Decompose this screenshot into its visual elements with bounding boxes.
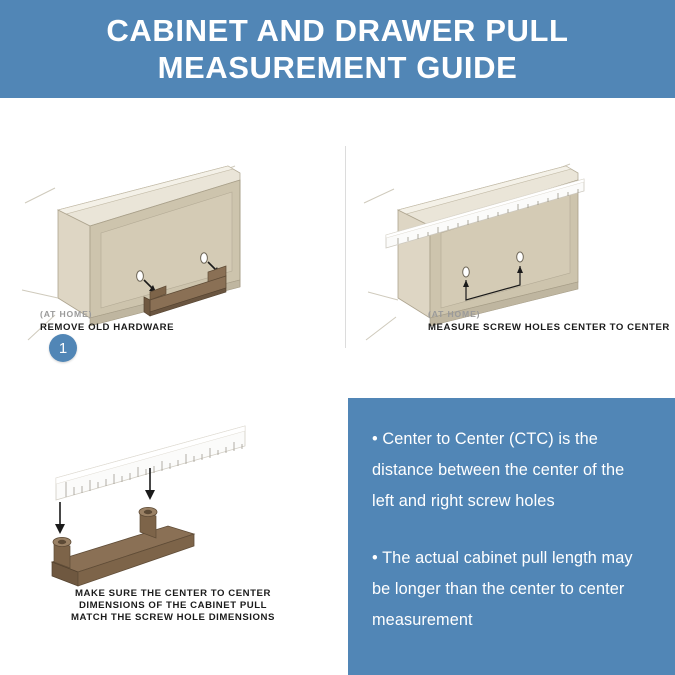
info-bullet-pull-length: • The actual cabinet pull length may be … [372,543,651,636]
cabinet-pull-step-3 [52,507,194,586]
step-1-caption: (AT HOME) REMOVE OLD HARDWARE [40,309,174,334]
step-1-title: REMOVE OLD HARDWARE [40,322,174,334]
step-1-at-home-label: (AT HOME) [40,309,174,319]
step-1-number: 1 [59,340,67,357]
page-title-line-2: MEASUREMENT GUIDE [158,49,518,86]
step-1-badge: 1 [49,334,77,362]
step-3-title-line-1: MAKE SURE THE CENTER TO CENTER [57,588,289,600]
page-header: CABINET AND DRAWER PULL MEASUREMENT GUID… [0,0,675,98]
step-3-title-line-2: DIMENSIONS OF THE CABINET PULL [57,600,289,612]
step-3-title-line-3: MATCH THE SCREW HOLE DIMENSIONS [57,612,289,624]
info-box: • Center to Center (CTC) is the distance… [348,398,675,675]
measurement-guide-page: CABINET AND DRAWER PULL MEASUREMENT GUID… [0,0,675,675]
step-3-caption: MAKE SURE THE CENTER TO CENTER DIMENSION… [57,588,289,624]
step-2-at-home-label: (AT HOME) [428,309,670,319]
page-title-line-1: CABINET AND DRAWER PULL [106,12,568,49]
step-2-title: MEASURE SCREW HOLES CENTER TO CENTER [428,322,670,334]
step-2-caption: (AT HOME) MEASURE SCREW HOLES CENTER TO … [428,309,670,334]
info-bullet-ctc-definition: • Center to Center (CTC) is the distance… [372,424,651,517]
